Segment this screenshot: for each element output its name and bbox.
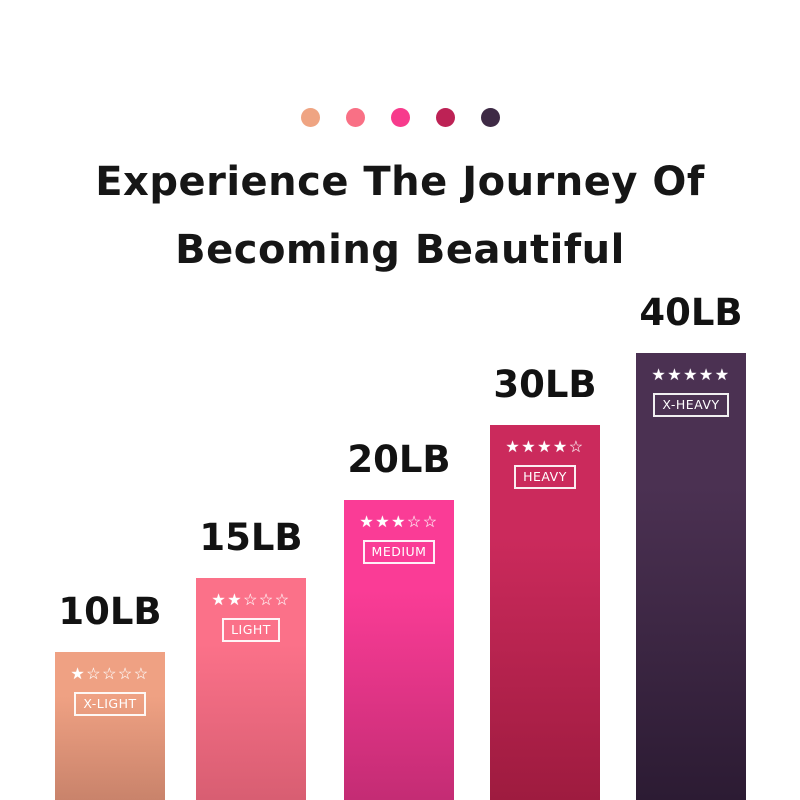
- bar-column-40lb[interactable]: 40LB★★★★★X-HEAVY: [636, 0, 746, 800]
- bar-weight-label-10lb: 10LB: [55, 590, 165, 634]
- bar-content-40lb: ★★★★★X-HEAVY: [636, 353, 746, 417]
- bar-weight-label-30lb: 30LB: [490, 363, 600, 407]
- bar-15lb[interactable]: ★★☆☆☆LIGHT: [196, 578, 306, 800]
- bar-40lb[interactable]: ★★★★★X-HEAVY: [636, 353, 746, 800]
- bar-content-10lb: ★☆☆☆☆X-LIGHT: [55, 652, 165, 716]
- bar-column-10lb[interactable]: 10LB★☆☆☆☆X-LIGHT: [55, 0, 165, 800]
- level-badge-x-light: X-LIGHT: [74, 692, 145, 716]
- bar-column-20lb[interactable]: 20LB★★★☆☆MEDIUM: [344, 0, 454, 800]
- bar-weight-label-20lb: 20LB: [344, 438, 454, 482]
- star-rating-icon-10lb: ★☆☆☆☆: [55, 666, 165, 684]
- bar-content-20lb: ★★★☆☆MEDIUM: [344, 500, 454, 564]
- bar-weight-label-15lb: 15LB: [196, 516, 306, 560]
- level-badge-medium: MEDIUM: [363, 540, 436, 564]
- bar-10lb[interactable]: ★☆☆☆☆X-LIGHT: [55, 652, 165, 800]
- bar-column-30lb[interactable]: 30LB★★★★☆HEAVY: [490, 0, 600, 800]
- level-badge-x-heavy: X-HEAVY: [653, 393, 728, 417]
- bar-content-30lb: ★★★★☆HEAVY: [490, 425, 600, 489]
- level-badge-light: LIGHT: [222, 618, 280, 642]
- product-infographic: Experience The Journey Of Becoming Beaut…: [0, 0, 800, 800]
- level-badge-heavy: HEAVY: [514, 465, 576, 489]
- star-rating-icon-15lb: ★★☆☆☆: [196, 592, 306, 610]
- star-rating-icon-40lb: ★★★★★: [636, 367, 746, 385]
- bar-weight-label-40lb: 40LB: [636, 291, 746, 335]
- star-rating-icon-20lb: ★★★☆☆: [344, 514, 454, 532]
- bar-content-15lb: ★★☆☆☆LIGHT: [196, 578, 306, 642]
- star-rating-icon-30lb: ★★★★☆: [490, 439, 600, 457]
- bar-column-15lb[interactable]: 15LB★★☆☆☆LIGHT: [196, 0, 306, 800]
- resistance-bar-chart: 10LB★☆☆☆☆X-LIGHT15LB★★☆☆☆LIGHT20LB★★★☆☆M…: [0, 0, 800, 800]
- bar-30lb[interactable]: ★★★★☆HEAVY: [490, 425, 600, 800]
- bar-20lb[interactable]: ★★★☆☆MEDIUM: [344, 500, 454, 800]
